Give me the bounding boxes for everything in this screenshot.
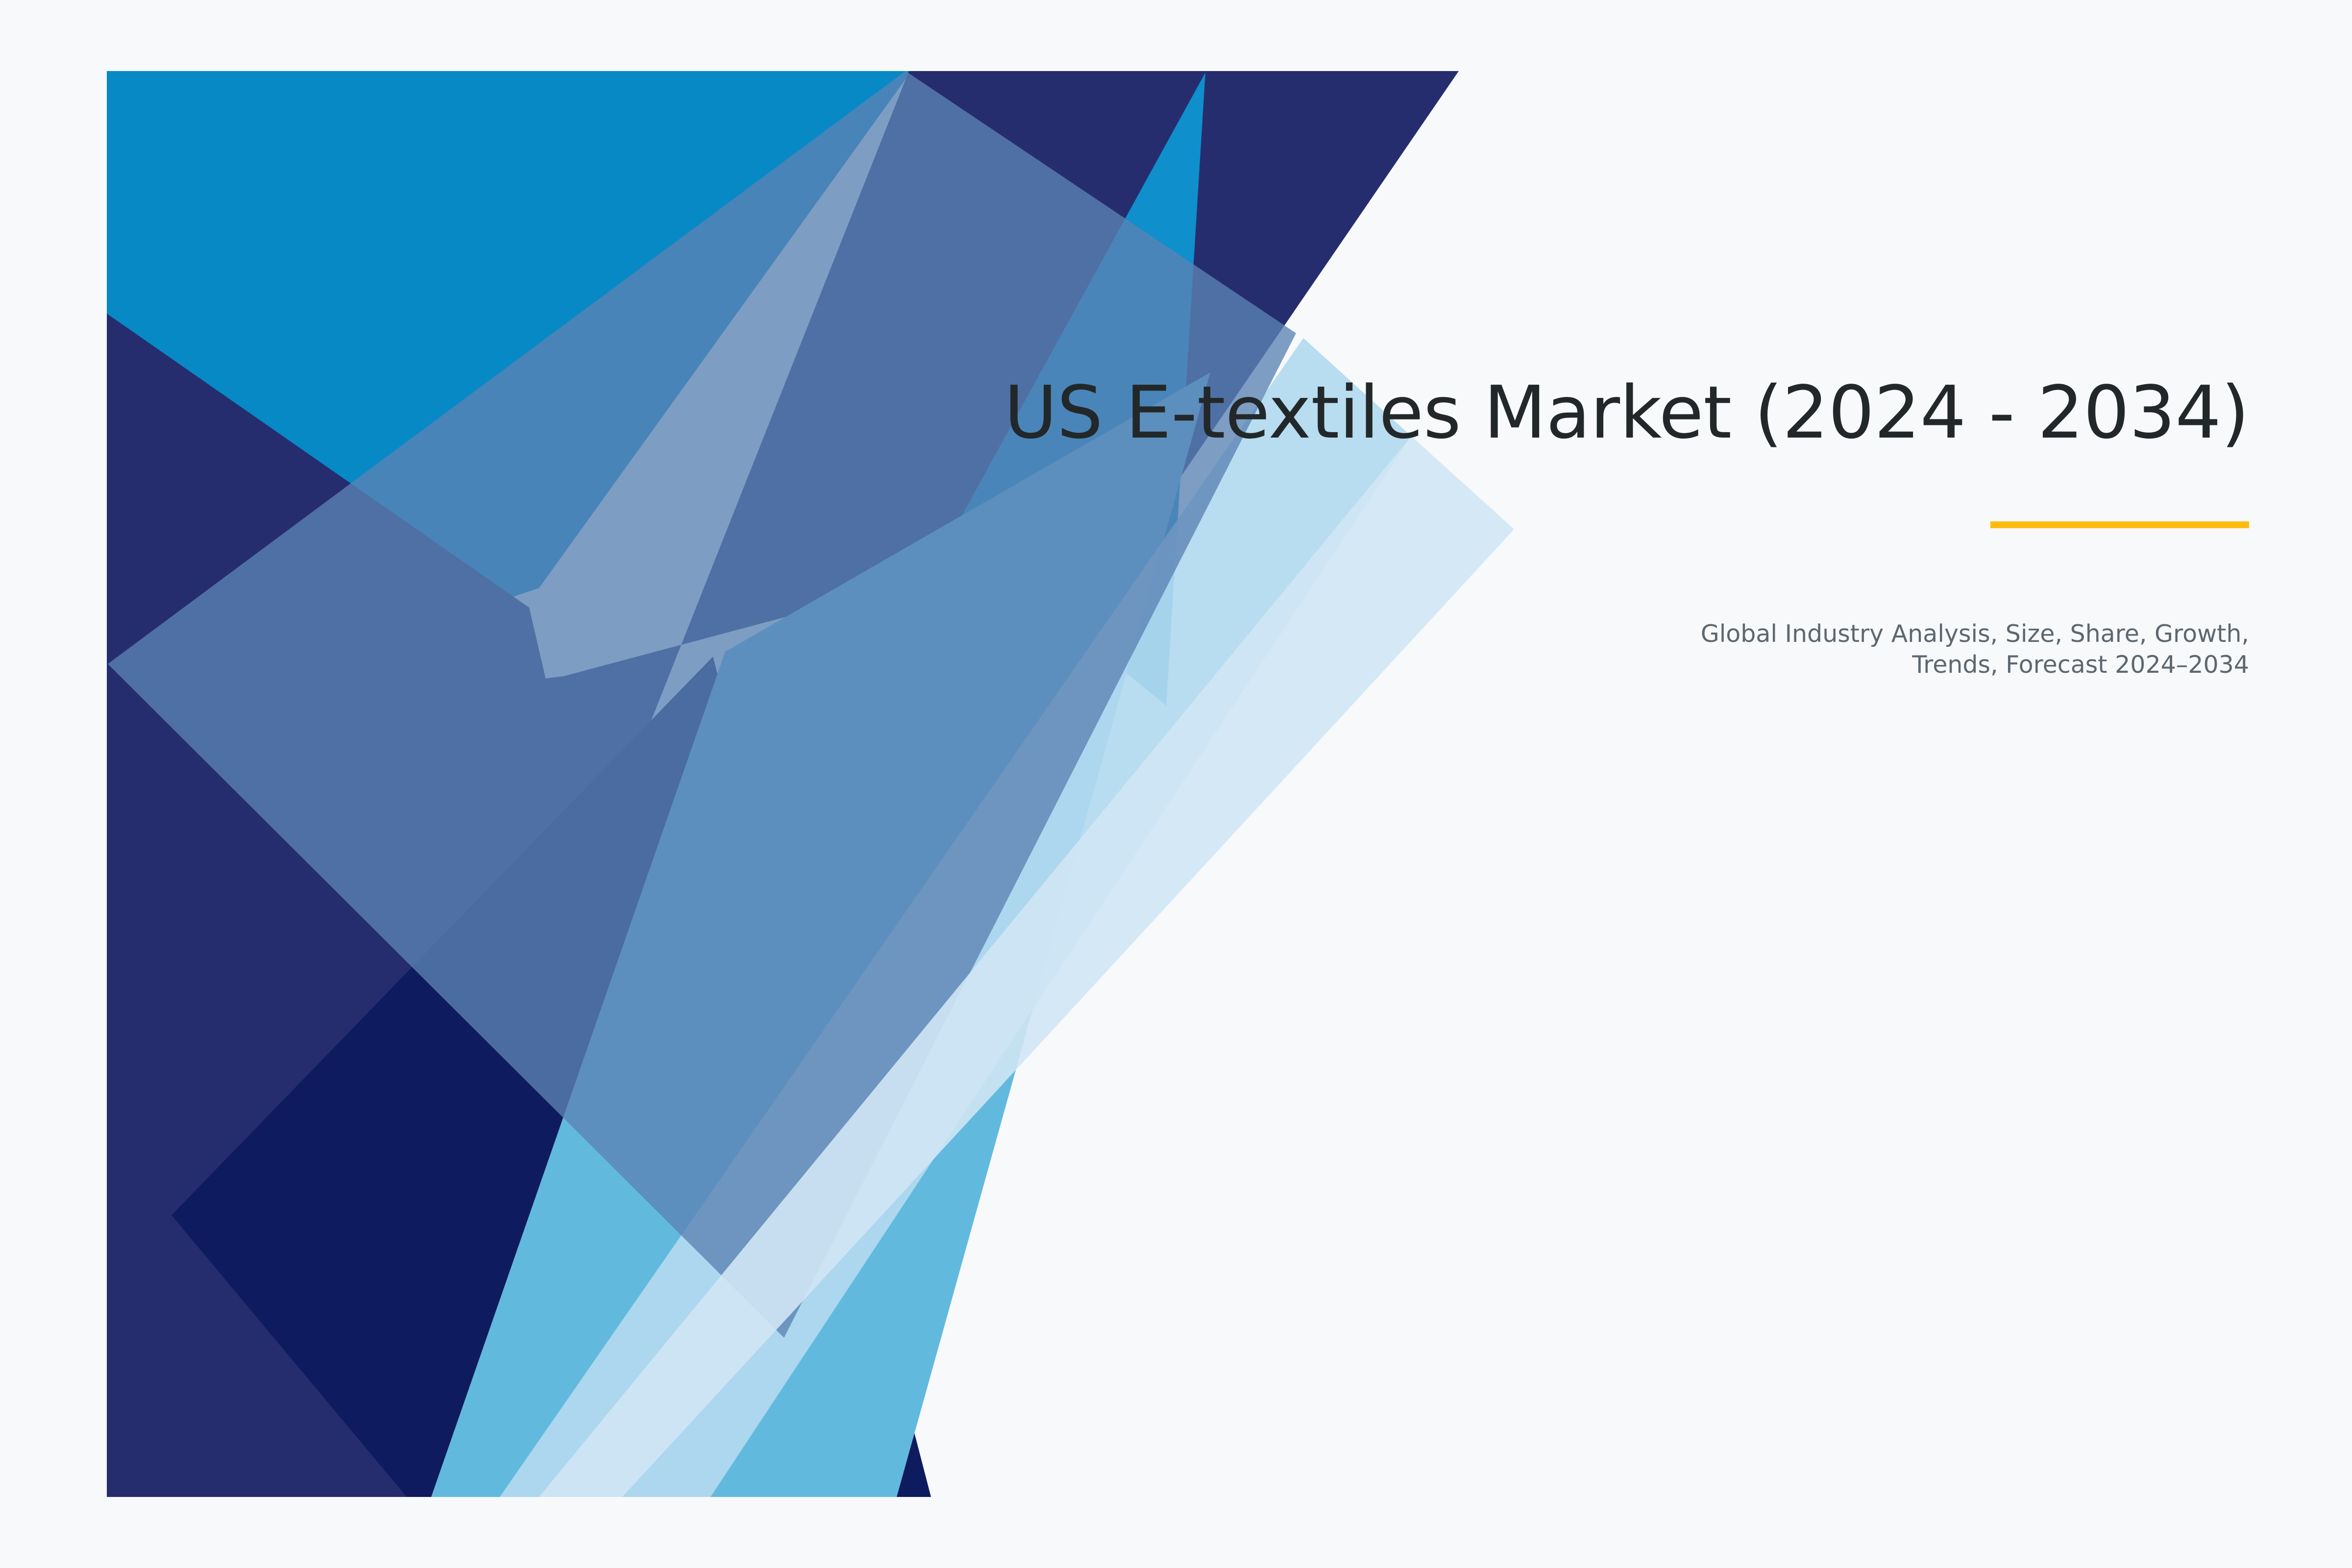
page-title: US E-textiles Market (2024 - 2034): [926, 372, 2249, 454]
title-block: US E-textiles Market (2024 - 2034) Globa…: [926, 372, 2249, 681]
title-slide: US E-textiles Market (2024 - 2034) Globa…: [0, 0, 2352, 1568]
page-subtitle: Global Industry Analysis, Size, Share, G…: [1632, 618, 2249, 681]
abstract-geometric-cover-art: [0, 0, 2352, 1568]
accent-rule: [1990, 521, 2249, 528]
